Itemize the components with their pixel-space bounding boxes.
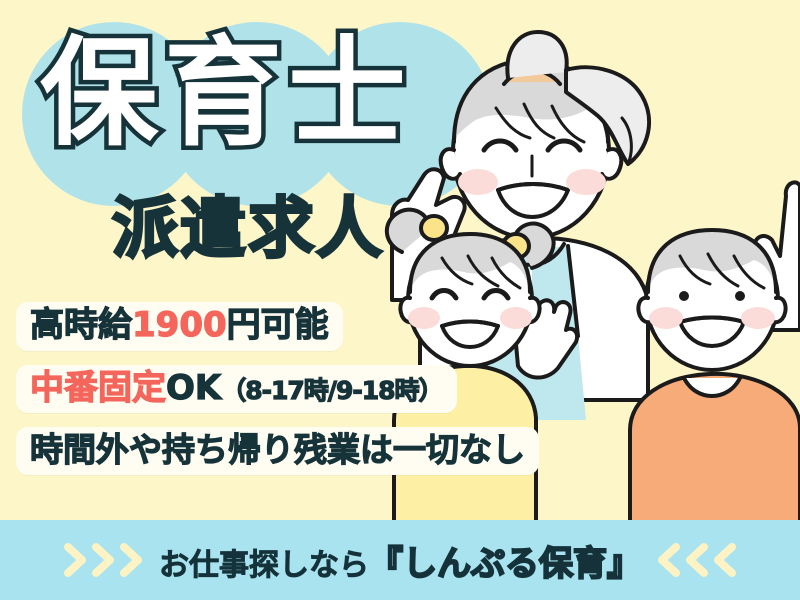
bullet-wage-amount: 1900: [132, 305, 227, 345]
banner-lead-text: お仕事探しなら: [159, 548, 369, 583]
bullet-item-shift: 中番固定OK（8-17時/9-18時）: [16, 365, 457, 414]
chevron-right-group: [63, 543, 145, 577]
bullet-list: 高時給1900円可能 中番固定OK（8-17時/9-18時） 時間外や持ち帰り残…: [16, 302, 539, 489]
page-title: 保育士: [40, 34, 412, 152]
banner-quote-open: 『: [369, 544, 403, 584]
bullet-shift-highlight: 中番固定: [30, 368, 166, 408]
page-subtitle: 派遣求人: [112, 196, 384, 262]
bullet-shift-ok: OK: [166, 368, 221, 408]
bullet-item-wage: 高時給1900円可能: [16, 302, 343, 351]
child-boy-figure: [630, 182, 800, 525]
chevron-left-group: [655, 543, 737, 577]
banner-quote-close: 』: [607, 544, 641, 584]
bullet-wage-lead: 高時給: [30, 305, 132, 345]
poster-canvas: 保育士 派遣求人 高時給1900円可能 中番固定OK（8-17時/9-18時） …: [0, 0, 800, 600]
bullet-overtime-text: 時間外や持ち帰り残業は一切なし: [30, 430, 525, 469]
bottom-banner: お仕事探しなら『しんぷる保育』: [0, 520, 800, 600]
bullet-item-overtime: 時間外や持ち帰り残業は一切なし: [16, 427, 539, 475]
bullet-shift-hours: （8-17時/9-18時）: [221, 376, 442, 405]
teacher-raised-hand: [392, 169, 465, 300]
banner-message: お仕事探しなら『しんぷる保育』: [159, 536, 641, 585]
banner-brand-name: しんぷる保育: [403, 544, 607, 584]
bullet-wage-tail: 円可能: [227, 305, 329, 345]
